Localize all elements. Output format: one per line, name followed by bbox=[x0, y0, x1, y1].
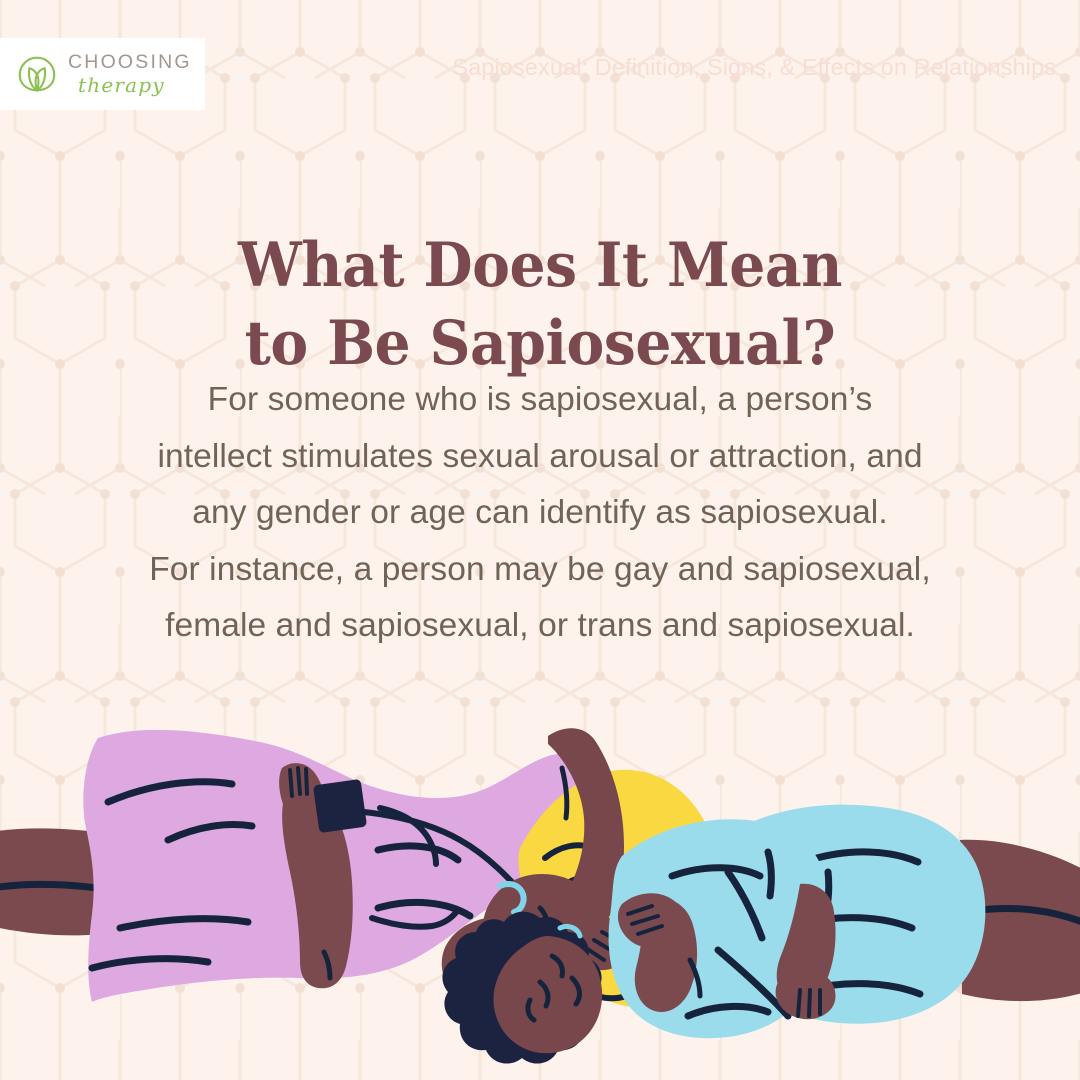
body-line-4: For instance, a person may be gay and sa… bbox=[60, 542, 1020, 599]
body-line-1: For someone who is sapiosexual, a person… bbox=[60, 372, 1020, 429]
logo-word-choosing: CHOOSING bbox=[68, 53, 192, 73]
logo-wordmark: CHOOSING therapy bbox=[68, 53, 192, 95]
body-paragraph: For someone who is sapiosexual, a person… bbox=[60, 372, 1020, 655]
body-line-3: any gender or age can identify as sapios… bbox=[60, 485, 1020, 542]
body-line-2: intellect stimulates sexual arousal or a… bbox=[60, 429, 1020, 486]
lotus-flower-logo-icon bbox=[14, 51, 60, 97]
infographic-canvas: CHOOSING therapy Sapiosexual: Definition… bbox=[0, 0, 1080, 1080]
body-line-5: female and sapiosexual, or trans and sap… bbox=[60, 598, 1020, 655]
article-title-header: Sapiosexual: Definition, Signs, & Effect… bbox=[452, 54, 1056, 81]
phone bbox=[313, 779, 367, 833]
figure-right-blue-shirt bbox=[609, 805, 1080, 1039]
logo-word-therapy: therapy bbox=[78, 75, 192, 95]
illustration-three-people-listening-music bbox=[0, 660, 1080, 1080]
choosing-therapy-logo[interactable]: CHOOSING therapy bbox=[0, 38, 205, 110]
figure-dark-curly-hair bbox=[442, 912, 602, 1064]
page-headline: What Does It Mean to Be Sapiosexual? bbox=[38, 227, 1042, 383]
headline-line-1: What Does It Mean bbox=[38, 227, 1042, 305]
